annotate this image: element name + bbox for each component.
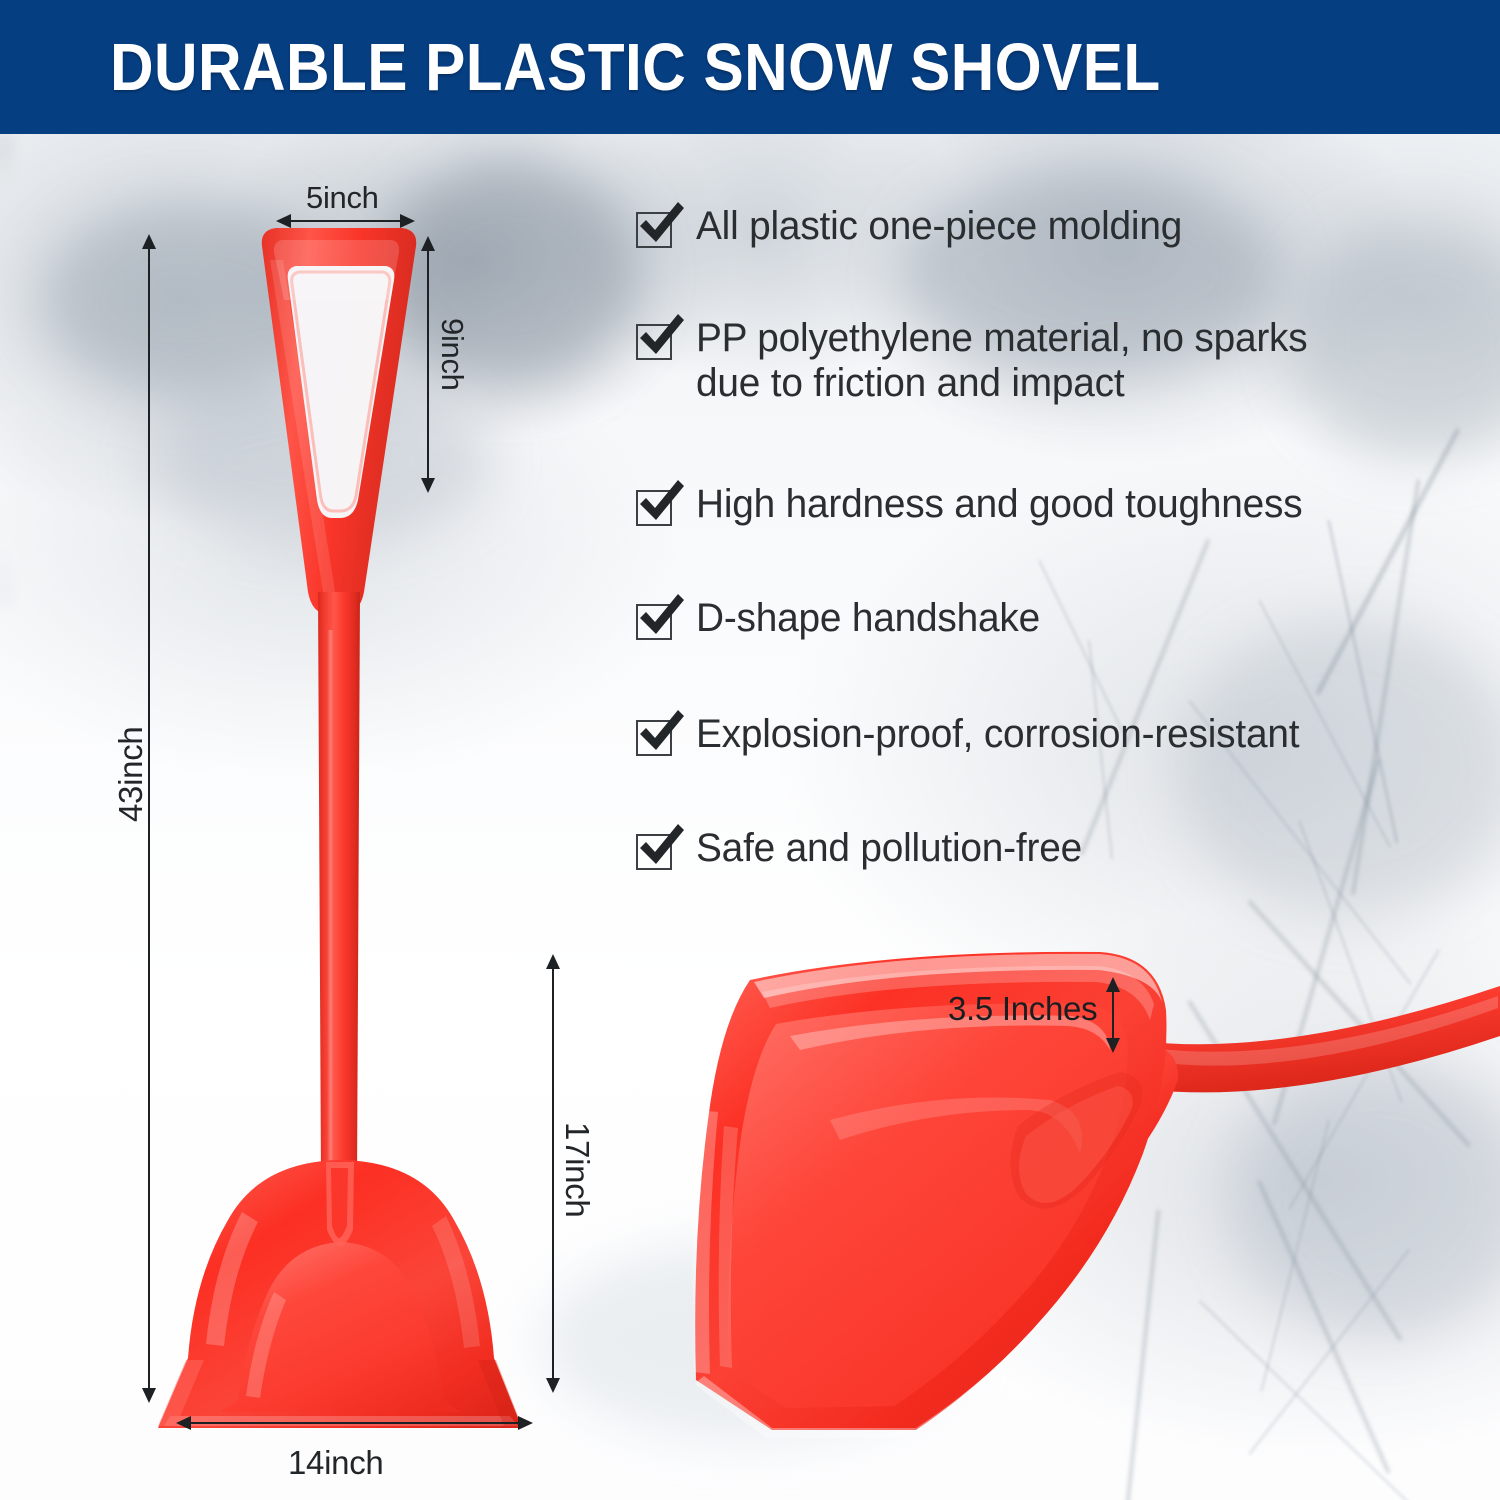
dimension-arrow-icon: [421, 236, 435, 251]
feature-item: PP polyethylene material, no sparks due …: [636, 316, 1326, 406]
dimension-label-total-length: 43inch: [112, 727, 150, 822]
checkbox-checked-icon[interactable]: [636, 324, 674, 362]
dimension-arrow-icon: [518, 1416, 533, 1430]
dimension-arrow-icon: [1106, 977, 1120, 992]
dimension-line-handle-width: [288, 220, 403, 222]
dimension-arrow-icon: [546, 954, 560, 969]
dimension-line-blade-depth: [1112, 990, 1114, 1040]
dimension-label-handle-height: 9inch: [434, 318, 470, 391]
checkbox-checked-icon[interactable]: [636, 490, 674, 528]
checkmark-icon: [634, 478, 686, 528]
dimension-arrow-icon: [142, 1388, 156, 1403]
dimension-arrow-icon: [421, 478, 435, 493]
dimension-label-blade-depth: 3.5 Inches: [948, 990, 1097, 1028]
feature-label: D-shape handshake: [696, 596, 1040, 641]
feature-label: Safe and pollution-free: [696, 826, 1082, 871]
feature-label: PP polyethylene material, no sparks due …: [696, 316, 1307, 406]
checkmark-icon: [634, 312, 686, 362]
dimension-label-blade-width: 14inch: [288, 1444, 383, 1482]
dimension-arrow-icon: [142, 234, 156, 249]
feature-item: Explosion-proof, corrosion-resistant: [636, 712, 1318, 758]
feature-item: Safe and pollution-free: [636, 826, 1094, 872]
feature-item: High hardness and good toughness: [636, 482, 1321, 528]
checkbox-checked-icon[interactable]: [636, 212, 674, 250]
dimension-arrow-icon: [276, 214, 291, 228]
feature-label: Explosion-proof, corrosion-resistant: [696, 712, 1299, 757]
feature-label: High hardness and good toughness: [696, 482, 1302, 527]
checkbox-checked-icon[interactable]: [636, 720, 674, 758]
dimension-label-handle-width: 5inch: [306, 180, 379, 216]
dimension-arrow-icon: [176, 1416, 191, 1430]
dimension-arrow-icon: [1106, 1038, 1120, 1053]
dimension-line-handle-height: [427, 250, 429, 480]
header-banner: DURABLE PLASTIC SNOW SHOVEL: [0, 0, 1500, 134]
background-soft-blob: [1180, 620, 1500, 920]
checkbox-checked-icon[interactable]: [636, 604, 674, 642]
checkbox-checked-icon[interactable]: [636, 834, 674, 872]
feature-item: D-shape handshake: [636, 596, 1051, 642]
product-infographic: DURABLE PLASTIC SNOW SHOVEL: [0, 0, 1500, 1500]
feature-label: All plastic one-piece molding: [696, 204, 1182, 249]
dimension-label-blade-height: 17inch: [558, 1122, 596, 1217]
feature-item: All plastic one-piece molding: [636, 204, 1197, 250]
checkmark-icon: [634, 708, 686, 758]
dimension-line-blade-height: [552, 968, 554, 1380]
checkmark-icon: [634, 592, 686, 642]
dimension-line-blade-width: [190, 1422, 520, 1424]
checkmark-icon: [634, 200, 686, 250]
dimension-arrow-icon: [546, 1378, 560, 1393]
page-title: DURABLE PLASTIC SNOW SHOVEL: [110, 29, 1161, 106]
checkmark-icon: [634, 822, 686, 872]
shovel-full-view-illustration: [150, 200, 570, 1430]
dimension-arrow-icon: [400, 214, 415, 228]
